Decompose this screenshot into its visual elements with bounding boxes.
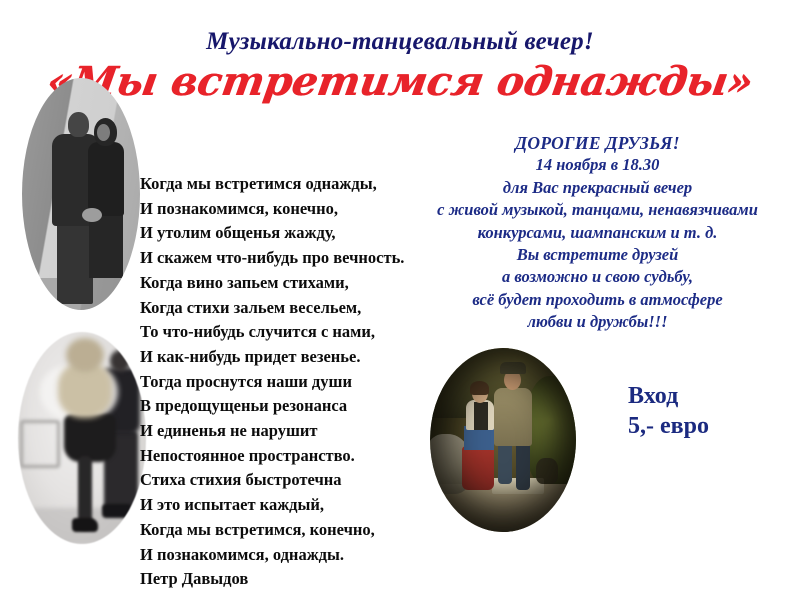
announcement-line: конкурсами, шампанским и т. д. [395,222,800,244]
announcement-line: Вы встретите друзей [395,244,800,266]
poem-line: И познакомимся, однажды. [140,543,440,568]
poster-canvas: Музыкально-танцевальный вечер! «Мы встре… [0,0,800,600]
announcement-line: а возможно и свою судьбу, [395,266,800,288]
photo-couple-standing [22,78,140,310]
announcement-block: ДОРОГИЕ ДРУЗЬЯ! 14 ноября в 18.30 для Ва… [395,132,800,334]
poem-line: Стиха стихия быстротечна [140,468,440,493]
announcement-heading: ДОРОГИЕ ДРУЗЬЯ! [395,132,800,154]
announcement-line: всё будет проходить в атмосфере [395,289,800,311]
announcement-line: любви и дружбы!!! [395,311,800,333]
poem-line: Когда мы встретимся, конечно, [140,518,440,543]
photo-dancer-woman-skirt [64,414,116,462]
announcement-line: с живой музыкой, танцами, ненавязчивами [395,199,800,221]
poem-line: Непостоянное пространство. [140,444,440,469]
announcement-datetime: 14 ноября в 18.30 [395,154,800,176]
announcement-line: для Вас прекрасный вечер [395,177,800,199]
photo-man-head [68,112,89,137]
photo-dancer-woman-shoe [72,518,98,532]
photo-dancer-woman-hair [66,338,104,372]
photo-chair [20,420,60,468]
entry-label: Вход [628,381,709,411]
poem-line: И как-нибудь придет везенье. [140,345,440,370]
photo-couple-dancing [18,332,146,544]
photo-man-legs [57,222,93,304]
page-title: Музыкально-танцевальный вечер! [0,28,800,56]
entry-price-block: Вход 5,- евро [628,381,709,441]
page-subtitle: «Мы встретимся однажды» [0,58,800,105]
poem-author: Петр Давыдов [140,567,440,592]
photo-woman-body [88,142,124,216]
poem-line: И это испытает каждый, [140,493,440,518]
poem-line: В предощущеньи резонанса [140,394,440,419]
poem-line: Тогда проснутся наши души [140,370,440,395]
photo-woman-skirt [89,212,123,278]
photo-woman-face [97,124,110,141]
photo-dancer-man-shoe [102,504,132,518]
painting-vignette [430,348,576,532]
photo-held-hands [82,208,102,222]
photo-dancer-man-head [110,350,130,372]
poem-line: И единенья не нарушит [140,419,440,444]
entry-amount: 5,- евро [628,411,709,441]
painting-couple-meeting [430,348,576,532]
